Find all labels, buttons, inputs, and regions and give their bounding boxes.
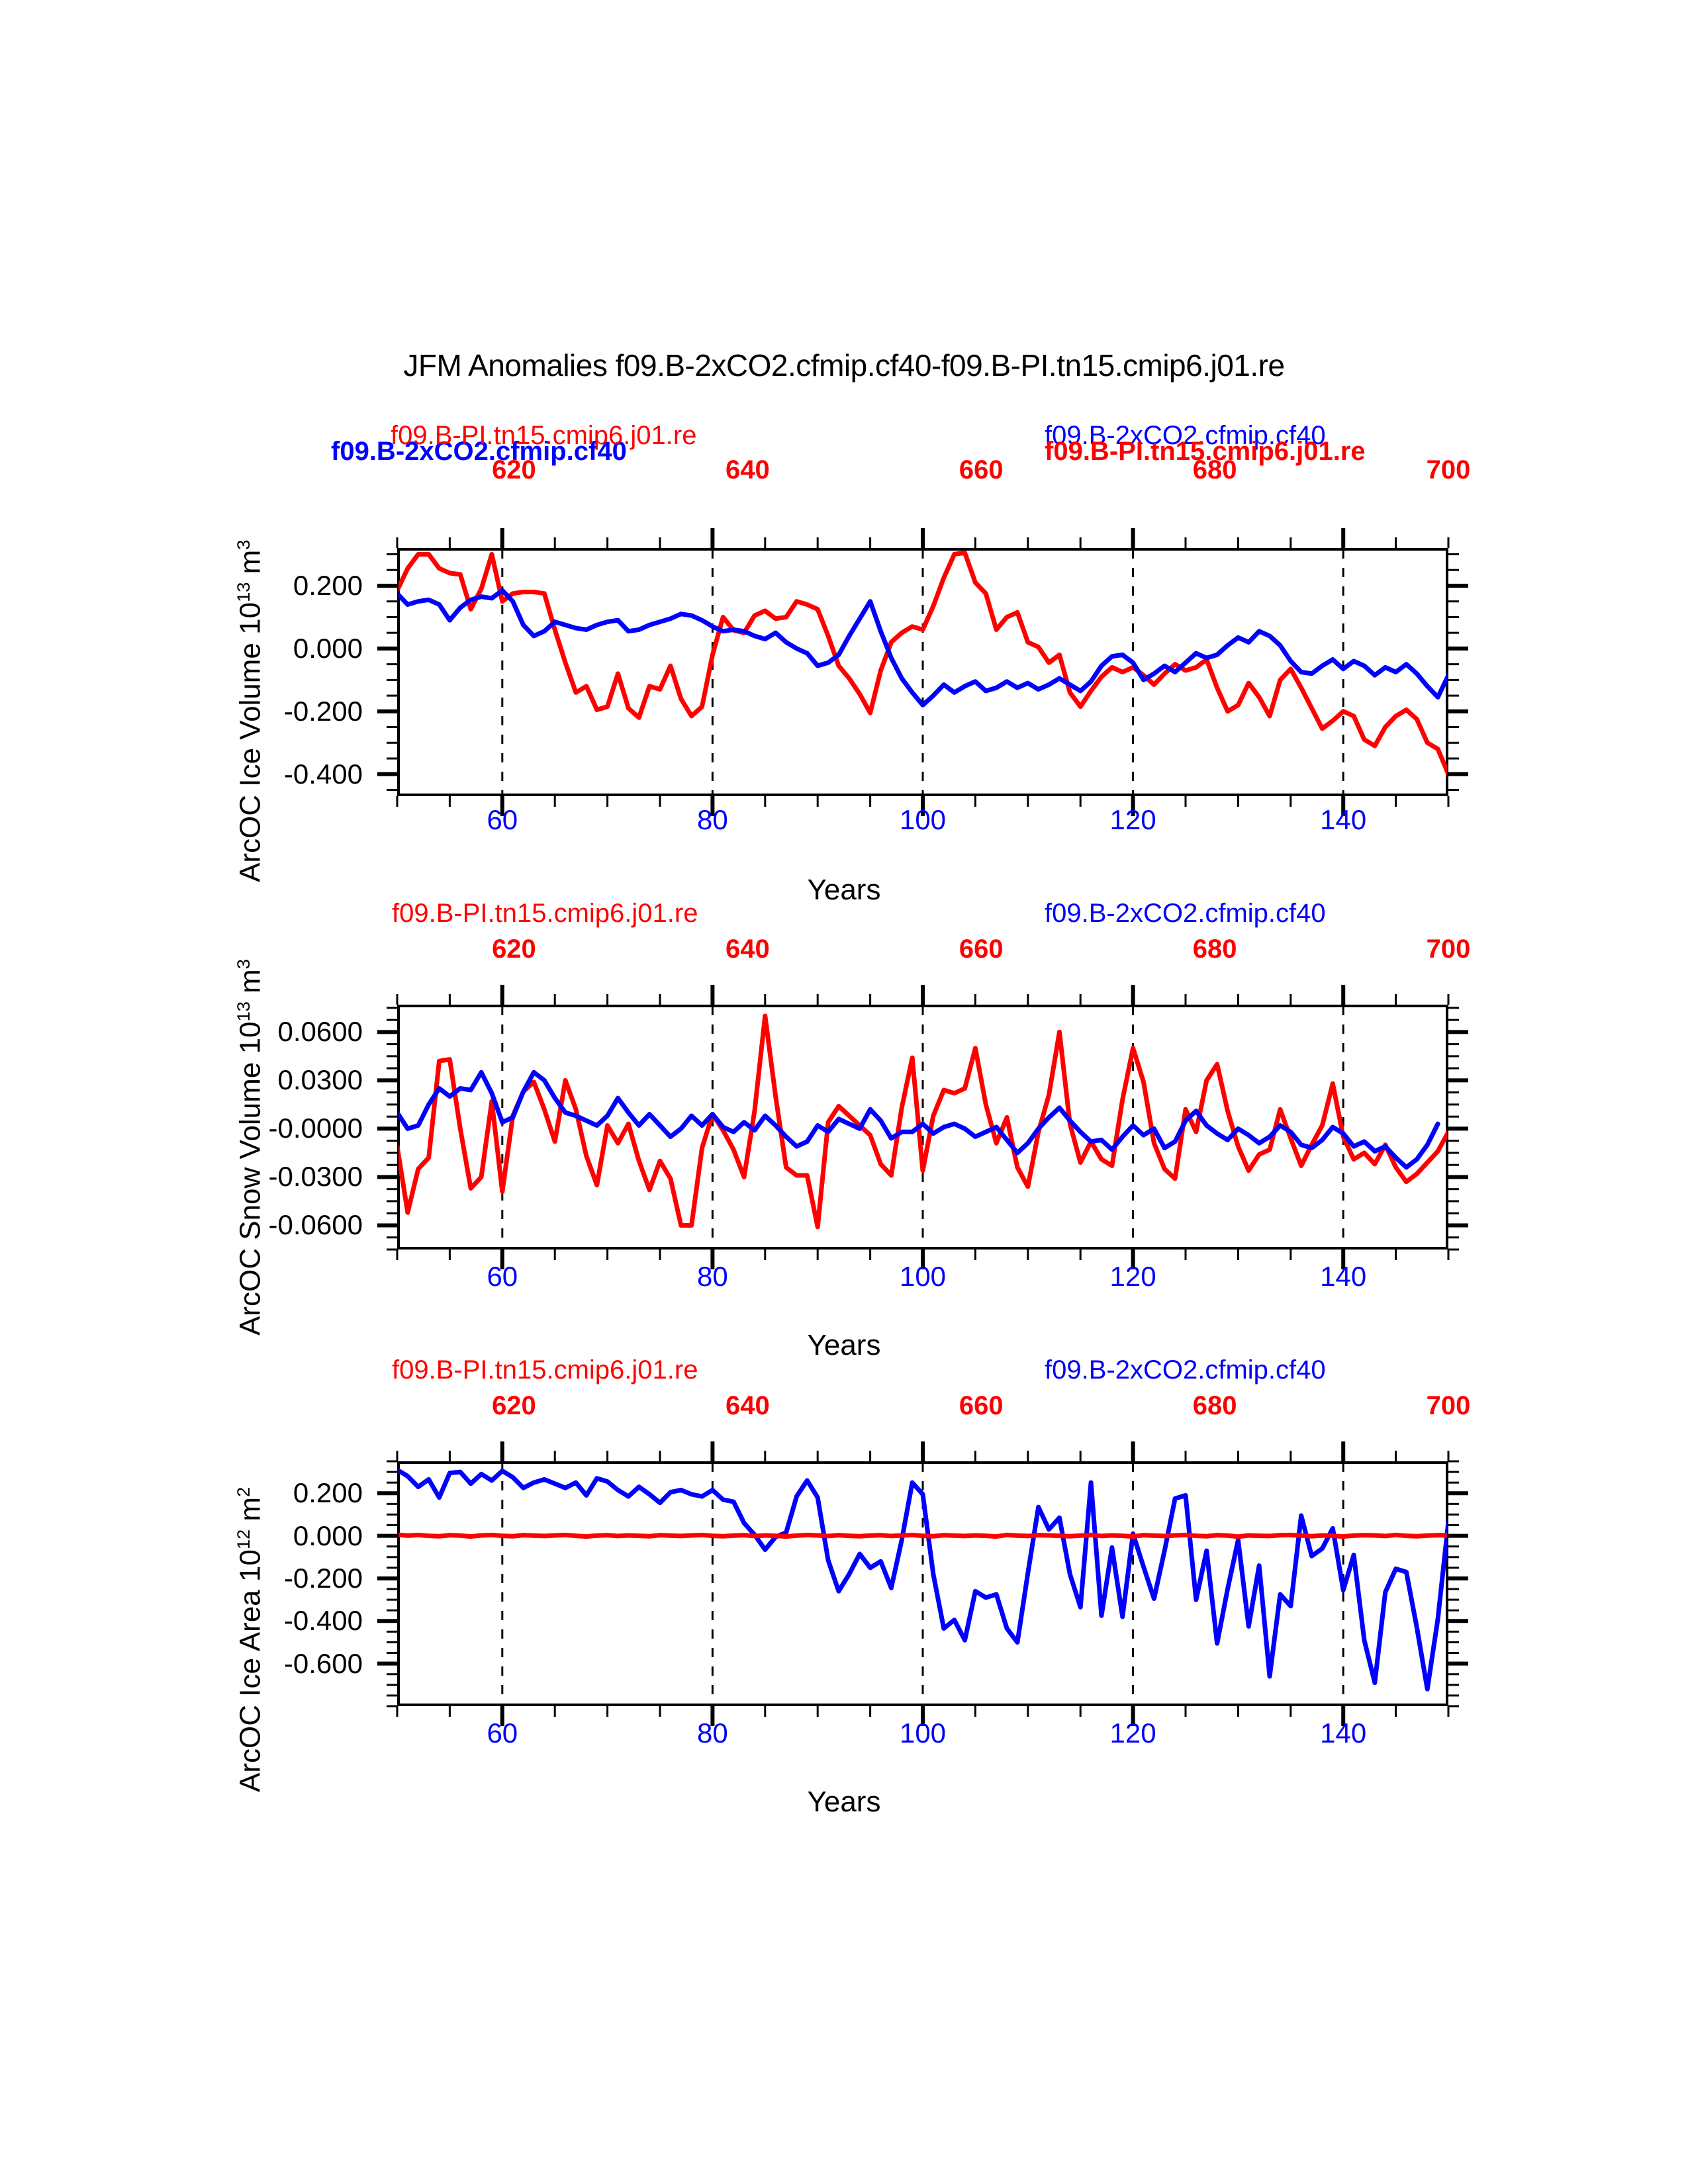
bottom-tick-label: 60 bbox=[487, 1261, 518, 1293]
bottom-tick-label: 120 bbox=[1110, 1261, 1156, 1293]
y-tick-label: -0.400 bbox=[0, 1605, 363, 1637]
top-tick-label: 640 bbox=[726, 934, 770, 964]
y-tick-label: -0.0300 bbox=[0, 1161, 363, 1193]
bottom-tick-label: 120 bbox=[1110, 1717, 1156, 1749]
y-tick-label: 0.0600 bbox=[0, 1016, 363, 1048]
bottom-tick-label: 80 bbox=[697, 804, 728, 836]
y-tick-label: -0.200 bbox=[0, 1563, 363, 1594]
bottom-tick-label: 60 bbox=[487, 1717, 518, 1749]
figure-title: JFM Anomalies f09.B-2xCO2.cfmip.cf40-f09… bbox=[0, 347, 1688, 383]
top-tick-label: 660 bbox=[959, 1391, 1004, 1421]
x-axis-label: Years bbox=[0, 1786, 1688, 1819]
y-axis-label: ArcOC Snow Volume 1013 m3 bbox=[233, 959, 267, 1336]
bottom-tick-label: 140 bbox=[1320, 804, 1366, 836]
top-tick-label: 620 bbox=[492, 1391, 536, 1421]
bottom-tick-label: 80 bbox=[697, 1261, 728, 1293]
bottom-tick-label: 140 bbox=[1320, 1261, 1366, 1293]
y-axis-label: ArcOC Ice Area 1012 m2 bbox=[233, 1487, 267, 1792]
top-tick-label: 700 bbox=[1427, 934, 1471, 964]
top-tick-label: 660 bbox=[959, 934, 1004, 964]
y-tick-label: 0.200 bbox=[0, 570, 363, 602]
bottom-tick-label: 140 bbox=[1320, 1717, 1366, 1749]
legend-red-left: f09.B-PI.tn15.cmip6.j01.re bbox=[392, 899, 698, 929]
y-tick-label: 0.0300 bbox=[0, 1064, 363, 1096]
top-tick-label: 680 bbox=[1193, 934, 1237, 964]
y-axis-label: ArcOC Ice Volume 1013 m3 bbox=[233, 540, 267, 882]
legend-blue-right: f09.B-2xCO2.cfmip.cf40 bbox=[1045, 1355, 1326, 1385]
legend-red-right: f09.B-PI.tn15.cmip6.j01.re bbox=[1045, 437, 1366, 467]
plot-frame bbox=[397, 1461, 1448, 1706]
y-tick-label: -0.0600 bbox=[0, 1209, 363, 1241]
x-axis-label: Years bbox=[0, 874, 1688, 907]
bottom-tick-label: 120 bbox=[1110, 804, 1156, 836]
legend-blue-right: f09.B-2xCO2.cfmip.cf40 bbox=[1045, 899, 1326, 929]
top-tick-label: 620 bbox=[492, 934, 536, 964]
y-tick-label: -0.0000 bbox=[0, 1113, 363, 1144]
top-tick-label: 700 bbox=[1427, 455, 1471, 485]
x-axis-label: Years bbox=[0, 1329, 1688, 1362]
bottom-tick-label: 100 bbox=[900, 1261, 946, 1293]
figure-page: JFM Anomalies f09.B-2xCO2.cfmip.cf40-f09… bbox=[0, 0, 1688, 2184]
legend-red-left: f09.B-PI.tn15.cmip6.j01.re bbox=[391, 421, 696, 451]
top-tick-label: 700 bbox=[1427, 1391, 1471, 1421]
top-tick-label: 640 bbox=[726, 1391, 770, 1421]
y-tick-label: 0.200 bbox=[0, 1477, 363, 1509]
bottom-tick-label: 80 bbox=[697, 1717, 728, 1749]
bottom-tick-label: 100 bbox=[900, 1717, 946, 1749]
top-tick-label: 680 bbox=[1193, 1391, 1237, 1421]
bottom-tick-label: 60 bbox=[487, 804, 518, 836]
y-tick-label: 0.000 bbox=[0, 633, 363, 664]
top-tick-label: 640 bbox=[726, 455, 770, 485]
y-tick-label: 0.000 bbox=[0, 1520, 363, 1552]
y-tick-label: -0.600 bbox=[0, 1648, 363, 1680]
plot-frame bbox=[397, 548, 1448, 796]
plot-frame bbox=[397, 1005, 1448, 1250]
legend-red-left: f09.B-PI.tn15.cmip6.j01.re bbox=[392, 1355, 698, 1385]
top-tick-label: 660 bbox=[959, 455, 1004, 485]
bottom-tick-label: 100 bbox=[900, 804, 946, 836]
y-tick-label: -0.400 bbox=[0, 758, 363, 790]
y-tick-label: -0.200 bbox=[0, 696, 363, 727]
